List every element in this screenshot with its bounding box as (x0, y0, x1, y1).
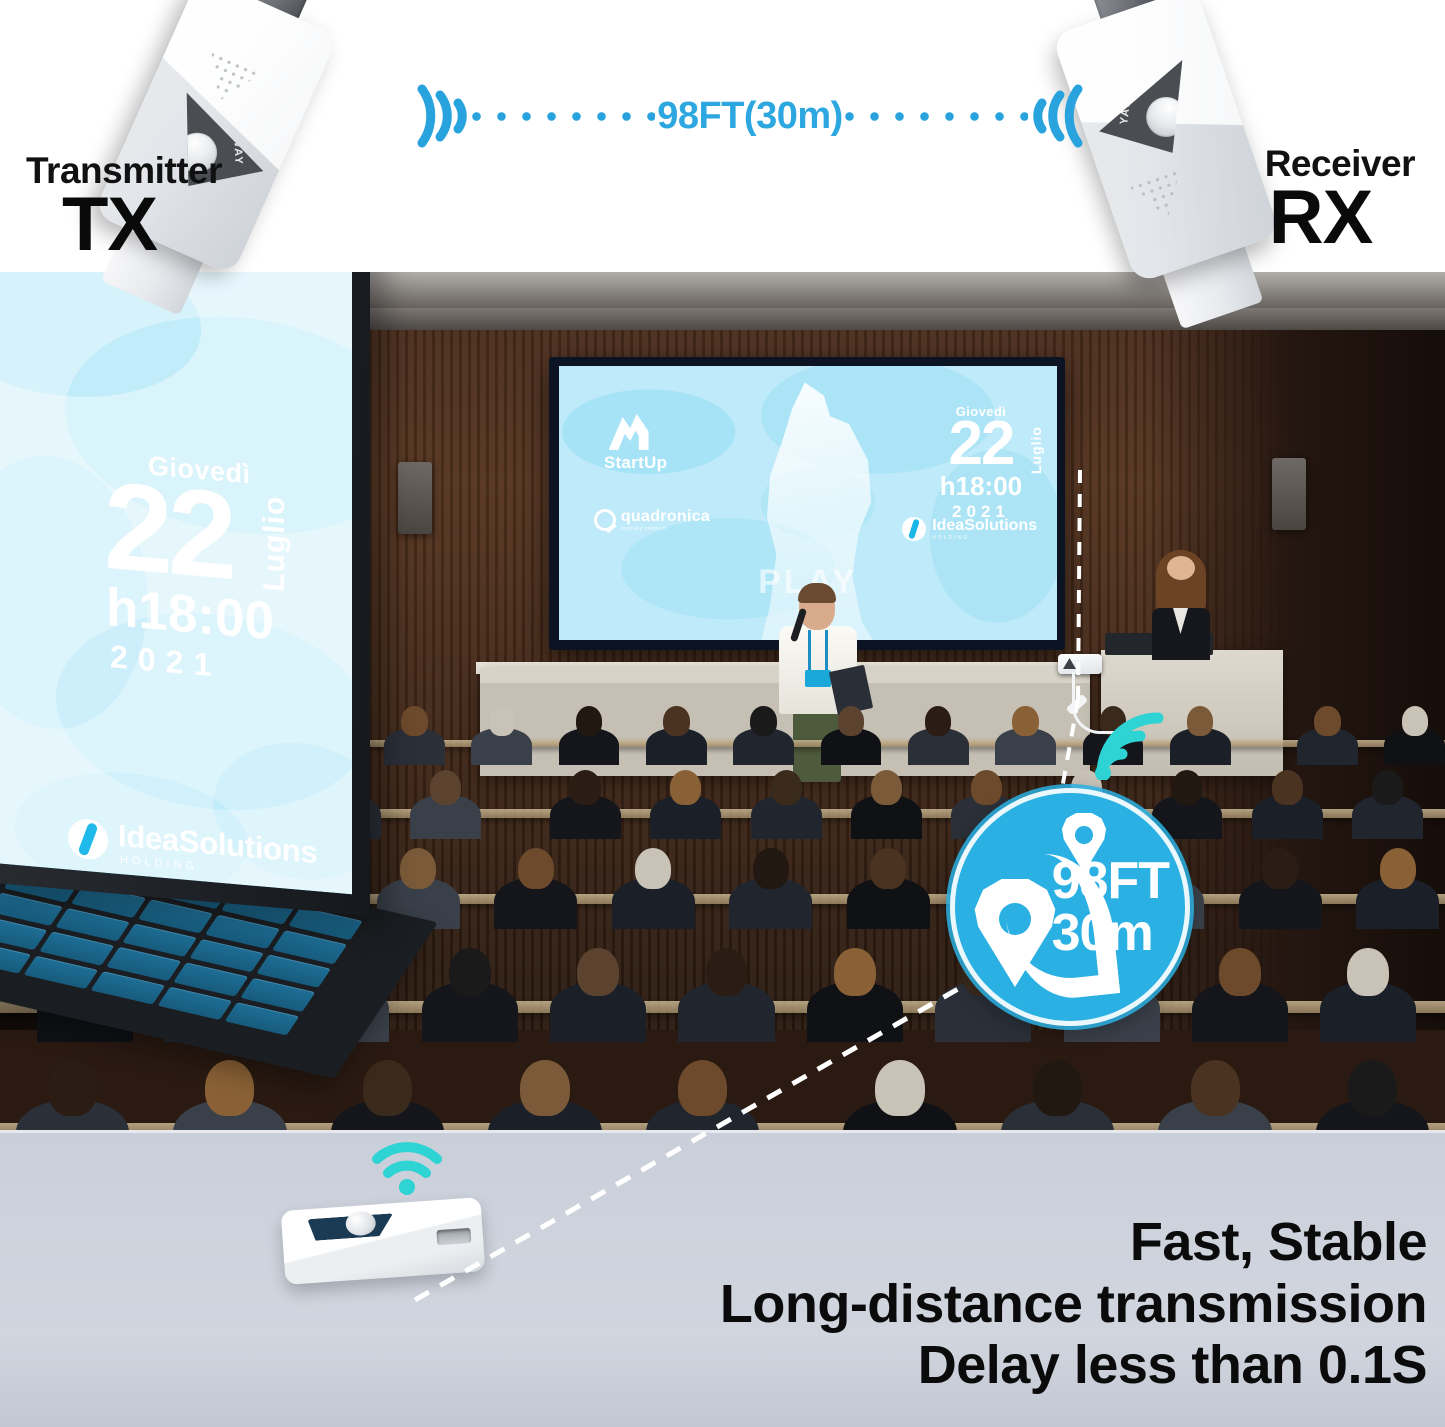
audience-head (363, 1060, 412, 1116)
tv-hour: h18:00 (940, 471, 1022, 502)
quadronica-label: quadronica (621, 508, 710, 526)
audience-head (1347, 948, 1389, 996)
audience-head (48, 1060, 97, 1116)
copy-line-3: Delay less than 0.1S (720, 1335, 1427, 1397)
audience-head (430, 770, 461, 805)
audience-head (1348, 1060, 1397, 1116)
audience-head (670, 770, 701, 805)
audience-head (1262, 848, 1298, 889)
signal-arcs-right-icon (1028, 79, 1090, 153)
audience-head (1012, 706, 1038, 736)
audience-head (1402, 706, 1428, 736)
wifi-fan-icon-tv (1092, 708, 1178, 780)
audience-head (834, 948, 876, 996)
audience-head (875, 1060, 924, 1116)
audience-head (1219, 948, 1261, 996)
startup-mark-icon (609, 410, 663, 450)
audience-head (205, 1060, 254, 1116)
signal-arcs-left-icon (410, 79, 472, 153)
presenter-lanyard (808, 630, 828, 670)
audience-head (1187, 706, 1213, 736)
audience-head (771, 770, 802, 805)
audience-head (925, 706, 951, 736)
audience-head (570, 770, 601, 805)
quadronica-mark-icon (594, 509, 616, 531)
audience-head (1314, 706, 1340, 736)
badge-feet: 98FT (1052, 855, 1169, 907)
audience-head (576, 706, 602, 736)
quadronica-sub: digitally connect (621, 526, 710, 532)
audience-head (871, 770, 902, 805)
receiver-dongle-on-tv (1058, 654, 1102, 674)
audience-head (1033, 1060, 1082, 1116)
copy-line-2: Long-distance transmission (720, 1274, 1427, 1336)
laptop: Giovedì 22 Luglio h18:00 2021 IdeaSoluti… (0, 207, 370, 899)
audience-head (1191, 1060, 1240, 1116)
tv-ideasolutions-logo: IdeaSolutions HOLDING (902, 517, 1037, 541)
audience-head (1372, 770, 1403, 805)
signal-dots-left (472, 111, 655, 121)
tx-flat-port (436, 1228, 471, 1245)
podium-speaker-face (1167, 556, 1195, 580)
transmitter-code: TX (62, 189, 222, 261)
audience-head (577, 948, 619, 996)
audience-head (1272, 770, 1303, 805)
receiver-code: RX (1269, 182, 1415, 254)
quadronica-logo: quadronica digitally connect (594, 508, 710, 532)
tv-brand-sub: HOLDING (932, 535, 1037, 541)
product-marketing-image: PLAY StartUp quadronica digitally connec… (0, 0, 1445, 1427)
audience-head (678, 1060, 727, 1116)
audience-head (870, 848, 906, 889)
laptop-month: Luglio (258, 494, 292, 593)
badge-meters: 30m (1052, 907, 1169, 959)
audience-head (635, 848, 671, 889)
podium-speaker (1146, 550, 1216, 654)
startup-logo: StartUp (604, 410, 668, 473)
transmitter-label: Transmitter TX (26, 152, 222, 261)
laptop-date-block: Giovedì 22 Luglio h18:00 2021 (80, 445, 300, 692)
receiver-label: Receiver RX (1265, 145, 1415, 254)
rx-dongle-body (1058, 654, 1102, 674)
ideasolutions-mark-icon (68, 817, 108, 860)
marketing-copy: Fast, Stable Long-distance transmission … (720, 1212, 1427, 1397)
tv-date-block: Giovedì 22 Luglio h18:00 2021 (940, 404, 1022, 522)
audience-head (838, 706, 864, 736)
tv-month: Luglio (1028, 426, 1044, 474)
audience-head (706, 948, 748, 996)
audience-head (489, 706, 515, 736)
startup-label: StartUp (604, 453, 668, 473)
wall-speaker-right (1272, 458, 1306, 530)
audience-head (1380, 848, 1416, 889)
wifi-icon-laptop-dongle (371, 1137, 443, 1195)
audience-head (750, 706, 776, 736)
audience-head (518, 848, 554, 889)
wireless-link-indicator: 98FT(30m) (410, 78, 1090, 154)
badge-text: 98FT 30m (1052, 855, 1169, 959)
audience-head (400, 848, 436, 889)
wall-speaker-left (398, 462, 432, 534)
audience-head (449, 948, 491, 996)
copy-line-1: Fast, Stable (720, 1212, 1427, 1274)
distance-badge: 98FT 30m (950, 788, 1190, 1026)
audience-head (520, 1060, 569, 1116)
signal-dots-right (845, 111, 1028, 121)
distance-label: 98FT(30m) (655, 95, 845, 138)
presenter-hair (798, 583, 836, 603)
presenter-badge (805, 670, 831, 687)
tv-day-number: 22 (940, 419, 1022, 470)
audience-head (971, 770, 1002, 805)
ideasolutions-mark-icon (902, 517, 926, 541)
audience-head (753, 848, 789, 889)
audience-head (663, 706, 689, 736)
tv-brand-label: IdeaSolutions (932, 517, 1037, 535)
audience-head (401, 706, 427, 736)
transmitter-dongle-on-table (281, 1197, 486, 1285)
